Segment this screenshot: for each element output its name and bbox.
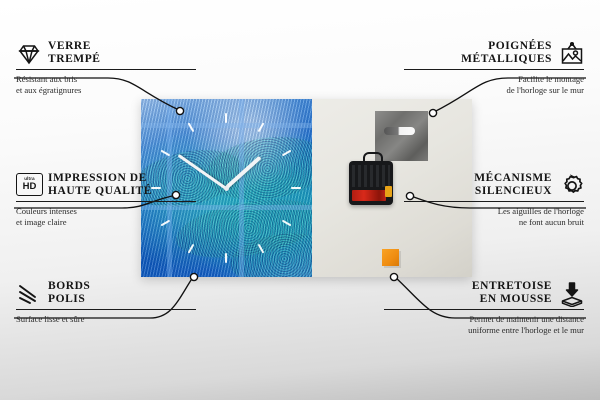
picture-hanger-icon — [559, 41, 584, 66]
polished-edges-icon — [16, 281, 41, 306]
divider — [16, 69, 196, 70]
hanger-slot — [384, 127, 415, 135]
callout-title: IMPRESSION DE HAUTE QUALITÉ — [48, 172, 152, 198]
callout-subtitle: Résistant aux bris et aux égratignures — [16, 74, 196, 96]
callout-title: MÉCANISME SILENCIEUX — [474, 172, 552, 198]
callout-bords-polis[interactable]: BORDS POLIS Surface lisse et sûre — [16, 280, 196, 325]
divider — [404, 69, 584, 70]
callout-subtitle: Surface lisse et sûre — [16, 314, 196, 325]
callout-subtitle: Couleurs intenses et image claire — [16, 206, 196, 228]
callout-impression-haute-qualite[interactable]: ultra HD IMPRESSION DE HAUTE QUALITÉ Cou… — [16, 172, 196, 228]
callout-title: VERRE TREMPÉ — [48, 40, 101, 66]
battery-terminal — [385, 186, 392, 197]
divider — [384, 309, 584, 310]
callout-title: ENTRETOISE EN MOUSSE — [472, 280, 552, 306]
divider — [16, 201, 196, 202]
hour-marker — [291, 187, 301, 189]
mechanism-hanging-loop — [363, 152, 383, 165]
clock-hub — [224, 186, 229, 191]
battery — [352, 190, 386, 201]
callout-entretoise-en-mousse[interactable]: ENTRETOISE EN MOUSSE Permet de maintenir… — [384, 280, 584, 336]
divider — [404, 201, 584, 202]
infographic-stage: VERRE TREMPÉ Résistant aux bris et aux é… — [0, 0, 600, 400]
foam-spacer-arrow-icon — [559, 281, 584, 306]
callout-subtitle: Facilite le montage de l'horloge sur le … — [404, 74, 584, 96]
callout-header: BORDS POLIS — [16, 280, 196, 306]
callout-subtitle: Les aiguilles de l'horloge ne font aucun… — [404, 206, 584, 228]
quartz-mechanism — [349, 161, 393, 205]
grid-line — [141, 123, 312, 128]
callout-verre-trempe[interactable]: VERRE TREMPÉ Résistant aux bris et aux é… — [16, 40, 196, 96]
callout-subtitle: Permet de maintenir une distance uniform… — [384, 314, 584, 336]
callout-title: POIGNÉES MÉTALLIQUES — [461, 40, 552, 66]
callout-header: ultra HD IMPRESSION DE HAUTE QUALITÉ — [16, 172, 196, 198]
metal-hanger-plate — [375, 111, 428, 161]
callout-header: POIGNÉES MÉTALLIQUES — [404, 40, 584, 66]
callout-header: VERRE TREMPÉ — [16, 40, 196, 66]
callout-poignees-metalliques[interactable]: POIGNÉES MÉTALLIQUES Facilite le montage… — [404, 40, 584, 96]
hour-marker — [225, 113, 227, 123]
diamond-icon — [16, 41, 41, 66]
callout-header: MÉCANISME SILENCIEUX — [404, 172, 584, 198]
ultra-hd-main-label: HD — [23, 182, 37, 192]
callout-title: BORDS POLIS — [48, 280, 90, 306]
divider — [16, 309, 196, 310]
mechanism-body — [352, 165, 390, 187]
foam-spacer — [382, 249, 399, 266]
ultra-hd-badge-icon: ultra HD — [16, 173, 41, 198]
callout-mecanisme-silencieux[interactable]: MÉCANISME SILENCIEUX Les aiguilles de l'… — [404, 172, 584, 228]
gear-icon — [559, 173, 584, 198]
callout-header: ENTRETOISE EN MOUSSE — [384, 280, 584, 306]
hour-marker — [225, 253, 227, 263]
